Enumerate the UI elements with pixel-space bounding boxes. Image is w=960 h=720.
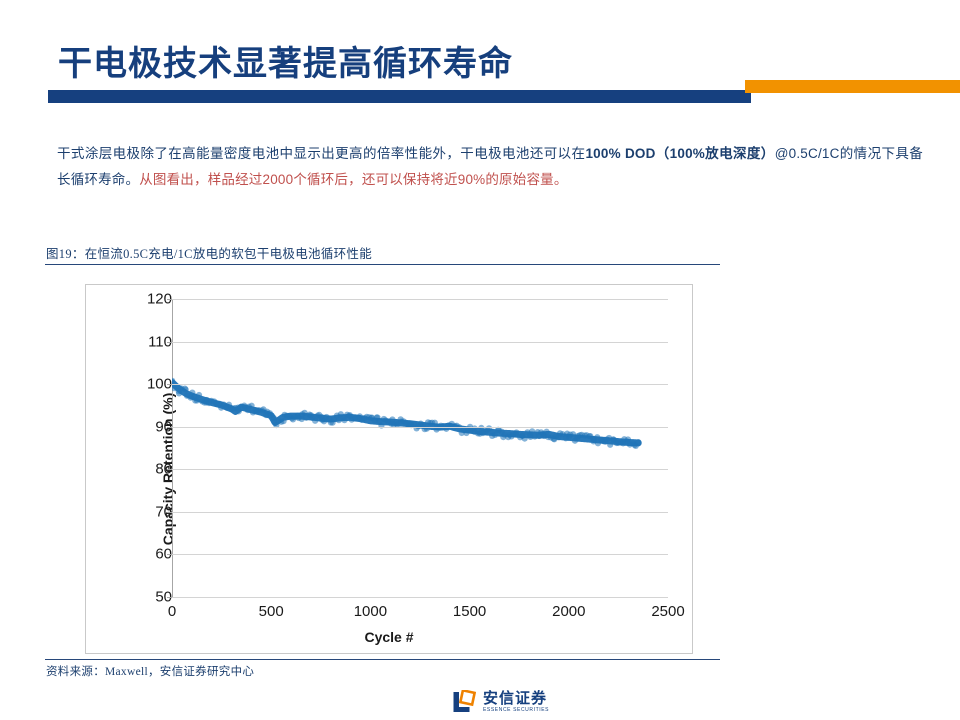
chart-gridline bbox=[172, 384, 668, 385]
chart-y-tick-label: 120 bbox=[126, 291, 172, 308]
body-segment-1: 干式涂层电极除了在高能量密度电池中显示出更高的倍率性能外，干电极电池还可以在 bbox=[57, 146, 585, 161]
chart-card: Capacity Retention (%) 50607080901001101… bbox=[85, 284, 693, 654]
chart-gridline bbox=[172, 512, 668, 513]
chart-x-tick-label: 2500 bbox=[651, 603, 684, 620]
chart-x-tick-label: 1500 bbox=[453, 603, 486, 620]
chart-gridline bbox=[172, 597, 668, 598]
logo-name-en: ESSENCE SECURITIES bbox=[483, 708, 549, 713]
chart-y-tickmark bbox=[167, 427, 172, 428]
chart-y-tick-label: 80 bbox=[126, 461, 172, 478]
chart-y-tick-label: 70 bbox=[126, 503, 172, 520]
body-paragraph: 干式涂层电极除了在高能量密度电池中显示出更高的倍率性能外，干电极电池还可以在10… bbox=[57, 141, 923, 193]
body-segment-highlight: 从图看出，样品经过2000个循环后，还可以保持将近90%的原始容量。 bbox=[139, 172, 567, 187]
chart-y-tickmark bbox=[167, 384, 172, 385]
chart-y-tickmark bbox=[167, 597, 172, 598]
header-rule-orange bbox=[745, 80, 960, 93]
brand-logo: 安信证券 ESSENCE SECURITIES bbox=[452, 690, 549, 714]
chart-y-tick-label: 110 bbox=[126, 333, 172, 350]
logo-text: 安信证券 ESSENCE SECURITIES bbox=[483, 691, 549, 713]
chart-gridline bbox=[172, 299, 668, 300]
chart-gridline bbox=[172, 342, 668, 343]
chart-y-tickmark bbox=[167, 512, 172, 513]
chart-x-tick-label: 2000 bbox=[552, 603, 585, 620]
source-text: 资料来源：Maxwell，安信证券研究中心 bbox=[46, 663, 254, 679]
chart-y-axis-ticks: 5060708090100110120 bbox=[116, 285, 172, 653]
chart-x-tick-label: 1000 bbox=[354, 603, 387, 620]
chart-plot-area bbox=[172, 299, 668, 597]
page-title: 干电极技术显著提高循环寿命 bbox=[58, 36, 513, 85]
figure-caption: 图19：在恒流0.5C充电/1C放电的软包干电极电池循环性能 bbox=[46, 243, 372, 262]
chart-data-series bbox=[172, 299, 668, 597]
chart-gridline bbox=[172, 469, 668, 470]
header-rule-blue bbox=[48, 90, 751, 103]
chart-x-axis-ticks: 05001000150020002500 bbox=[86, 603, 692, 625]
chart-x-axis-label: Cycle # bbox=[86, 629, 692, 645]
chart-plot-wrapper: Capacity Retention (%) 50607080901001101… bbox=[86, 285, 692, 653]
source-divider bbox=[45, 659, 720, 660]
caption-divider bbox=[45, 264, 720, 265]
chart-y-tickmark bbox=[167, 554, 172, 555]
chart-y-tickmark bbox=[167, 342, 172, 343]
chart-gridline bbox=[172, 427, 668, 428]
chart-y-tick-label: 60 bbox=[126, 546, 172, 563]
chart-x-tick-label: 0 bbox=[168, 603, 176, 620]
logo-name-cn: 安信证券 bbox=[483, 691, 549, 706]
chart-y-tickmark bbox=[167, 469, 172, 470]
chart-gridline bbox=[172, 554, 668, 555]
body-segment-dod: 100% DOD（100%放电深度） bbox=[585, 146, 774, 161]
chart-y-tickmark bbox=[167, 299, 172, 300]
chart-y-tick-label: 90 bbox=[126, 418, 172, 435]
chart-y-tick-label: 100 bbox=[126, 376, 172, 393]
logo-mark-icon bbox=[452, 690, 476, 714]
chart-x-tick-label: 500 bbox=[259, 603, 284, 620]
